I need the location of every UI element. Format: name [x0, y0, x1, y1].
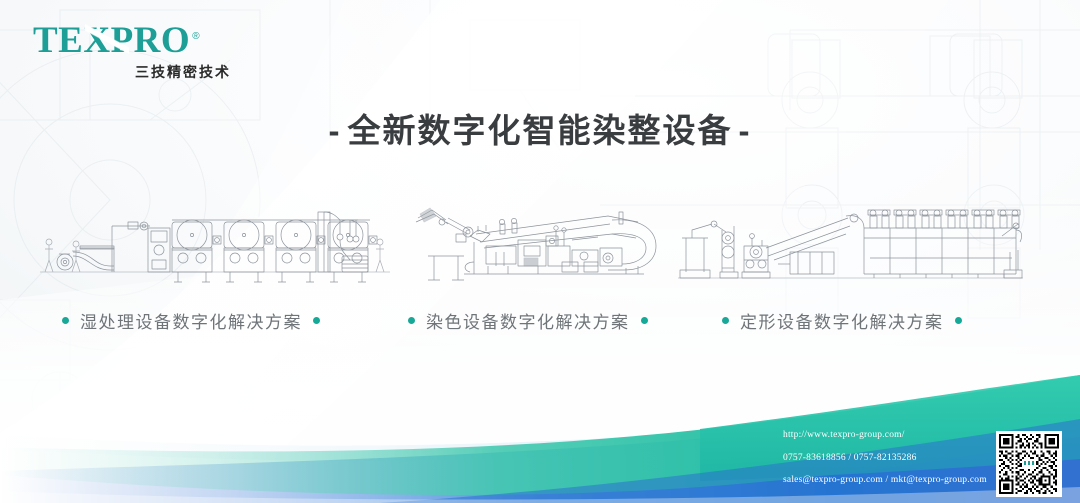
qr-code[interactable]	[996, 431, 1062, 497]
title-dash-left: -	[329, 112, 342, 149]
page-title: -全新数字化智能染整设备-	[0, 104, 1080, 152]
bullet-dot-icon	[408, 317, 415, 324]
registered-trademark-icon: ®	[192, 31, 200, 42]
bullet-dot-icon	[722, 317, 729, 324]
logo-subtitle: 三技精密技术	[33, 62, 233, 82]
bullet-dot-icon	[62, 317, 69, 324]
caption-text: 湿处理设备数字化解决方案	[80, 308, 302, 333]
title-text: 全新数字化智能染整设备	[348, 112, 733, 149]
caption-dyeing[interactable]: 染色设备数字化解决方案	[408, 308, 648, 333]
logo-wordmark-text: TEXPRO	[33, 20, 190, 61]
brand-logo[interactable]: TEXPRO® 三技精密技术	[33, 22, 233, 80]
contact-email[interactable]: sales@texpro-group.com / mkt@texpro-grou…	[783, 476, 988, 486]
caption-text: 染色设备数字化解决方案	[426, 308, 630, 333]
contact-phone[interactable]: 0757-83618856 / 0757-82135286	[783, 454, 988, 464]
contact-info: http://www.texpro-group.com/ 0757-836188…	[783, 431, 988, 486]
bullet-dot-icon	[313, 317, 320, 324]
stenter-setting-machine-illustration	[678, 190, 1023, 290]
solution-captions-row: 湿处理设备数字化解决方案 染色设备数字化解决方案 定形设备数字化解决方案	[0, 308, 1080, 336]
contact-website[interactable]: http://www.texpro-group.com/	[783, 431, 988, 441]
caption-setting[interactable]: 定形设备数字化解决方案	[722, 308, 962, 333]
promo-banner: TEXPRO® 三技精密技术 -全新数字化智能染整设备-	[0, 0, 1080, 503]
bullet-dot-icon	[641, 317, 648, 324]
logo-wordmark: TEXPRO®	[33, 22, 200, 59]
bullet-dot-icon	[955, 317, 962, 324]
machine-illustrations-row	[0, 190, 1080, 290]
caption-wet-processing[interactable]: 湿处理设备数字化解决方案	[62, 308, 320, 333]
wet-processing-line-illustration	[40, 190, 390, 290]
caption-text: 定形设备数字化解决方案	[740, 308, 944, 333]
dyeing-machine-illustration	[412, 190, 680, 290]
title-dash-right: -	[739, 112, 752, 149]
